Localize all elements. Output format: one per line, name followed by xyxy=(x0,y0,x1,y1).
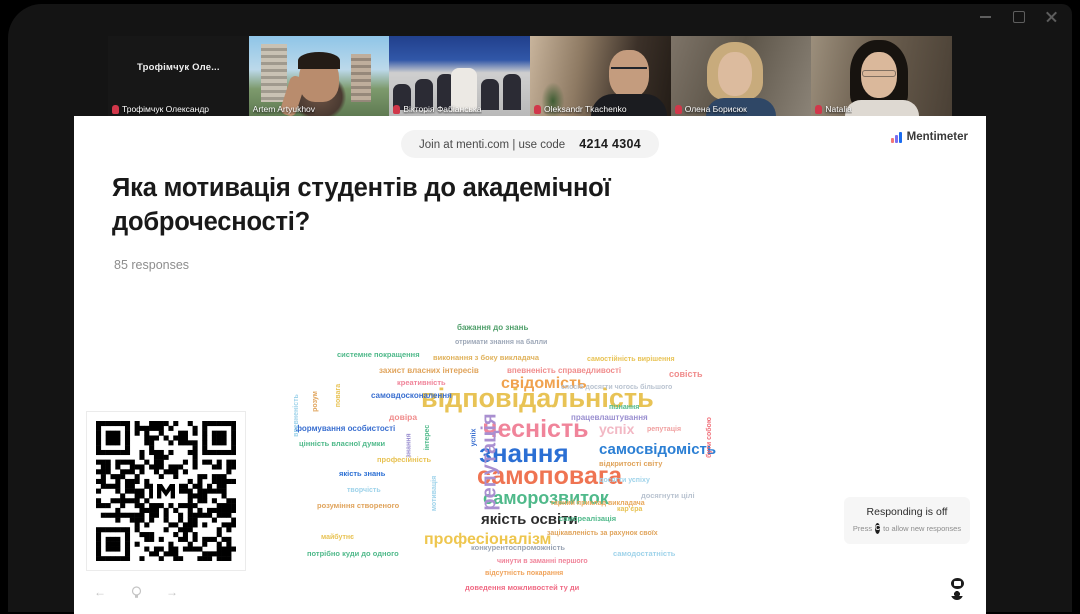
muted-mic-icon xyxy=(393,105,400,114)
brand-name: Mentimeter xyxy=(907,131,968,143)
word-cloud-word: довіра xyxy=(389,413,417,422)
participant-label: Artem Artyukhov xyxy=(253,104,315,114)
responding-status-title: Responding is off xyxy=(854,506,960,518)
word-cloud-word: розуміння створеного xyxy=(317,502,399,510)
slide-navigation[interactable]: ← → xyxy=(92,584,180,600)
word-cloud-word: формування особистості xyxy=(295,425,395,433)
mentimeter-mark-icon xyxy=(153,479,179,503)
word-cloud-word: совість xyxy=(669,370,702,379)
word-cloud-word: гарний приклад викладача xyxy=(551,500,645,507)
word-cloud-word: зацікавленість за рахунок своїх xyxy=(547,530,658,537)
participant-name: Artem Artyukhov xyxy=(253,104,315,114)
responding-status-card: Responding is off Press C to allow new r… xyxy=(844,497,970,544)
word-cloud-word: відкритості світу xyxy=(599,460,662,468)
word-cloud-word: бути собою xyxy=(706,417,713,458)
bar-chart-icon xyxy=(891,132,902,143)
minimize-icon[interactable] xyxy=(979,10,992,23)
join-code: 4214 4304 xyxy=(579,137,641,151)
word-cloud-word: системне покращення xyxy=(337,351,420,359)
hint-prefix: Press xyxy=(853,524,872,533)
word-cloud-word: самодостатність xyxy=(613,550,675,558)
participant-label: Oleksandr Tkachenko xyxy=(534,104,627,114)
qr-code-panel[interactable] xyxy=(86,411,246,571)
word-cloud-word: впевненість справедливості xyxy=(507,367,621,375)
word-cloud-word: репутація xyxy=(480,413,500,510)
word-cloud: відповідальністьчесністьзнаннясамоповага… xyxy=(269,312,789,572)
word-cloud-word: захист власних інтересів xyxy=(379,367,479,375)
next-slide-button[interactable]: → xyxy=(164,584,180,600)
response-count: 85 responses xyxy=(114,258,189,272)
muted-mic-icon xyxy=(815,105,822,114)
participant-name: Олена Борисюк xyxy=(685,104,747,114)
word-cloud-word: впевненість xyxy=(293,394,300,437)
close-icon[interactable] xyxy=(1045,10,1058,23)
word-cloud-word: спосіб досягти чогось більшого xyxy=(561,384,672,391)
word-cloud-word: чинути в заманні першого xyxy=(497,558,588,565)
presenter-view-button[interactable] xyxy=(948,578,966,604)
participant-tile[interactable]: Трофімчук Оле...Трофімчук Олександр xyxy=(108,36,249,116)
participant-label: Трофімчук Олександр xyxy=(112,104,209,114)
participant-label: Вікторія Фабіанська xyxy=(393,104,481,114)
word-cloud-word: самостійність вирішення xyxy=(587,356,675,363)
word-cloud-word: майбутнє xyxy=(321,534,354,541)
muted-mic-icon xyxy=(534,105,541,114)
word-cloud-word: досягнути цілі xyxy=(641,492,695,500)
word-cloud-word: кар'єра xyxy=(617,506,642,513)
word-cloud-word: розум xyxy=(312,391,319,412)
window-controls[interactable] xyxy=(979,10,1058,23)
bulb-icon[interactable] xyxy=(128,584,144,600)
participant-tile[interactable]: Oleksandr Tkachenko xyxy=(530,36,671,116)
participant-tile[interactable]: Олена Борисюк xyxy=(671,36,812,116)
participant-name: Oleksandr Tkachenko xyxy=(544,104,627,114)
participant-label: Natalia xyxy=(815,104,851,114)
maximize-icon[interactable] xyxy=(1012,10,1025,23)
word-cloud-word: успіх xyxy=(599,422,634,436)
word-cloud-word: інтерес xyxy=(424,425,431,450)
word-cloud-word: репутація xyxy=(647,426,681,433)
window-titlebar xyxy=(8,4,1072,36)
muted-mic-icon xyxy=(112,105,119,114)
screen-icon xyxy=(951,578,964,589)
word-cloud-word: пізнання xyxy=(609,404,639,411)
word-cloud-word: творчість xyxy=(347,487,381,494)
presentation-slide: Join at menti.com | use code 4214 4304 M… xyxy=(74,116,986,614)
word-cloud-word: досягти успіху xyxy=(599,477,650,484)
word-cloud-word: цінність власної думки xyxy=(299,440,385,448)
participant-name: Вікторія Фабіанська xyxy=(403,104,481,114)
participant-video-strip: Трофімчук Оле...Трофімчук ОлександрArtem… xyxy=(108,36,952,116)
participant-label: Олена Борисюк xyxy=(675,104,747,114)
join-text: Join at menti.com | use code xyxy=(419,139,565,151)
page-title: Яка мотивація студентів до академічної д… xyxy=(112,172,752,239)
word-cloud-word: самосвідомість xyxy=(599,442,716,457)
word-cloud-word: якість знань xyxy=(339,470,385,478)
shortcut-key-c: C xyxy=(875,523,880,534)
participant-tile[interactable]: Natalia xyxy=(811,36,952,116)
word-cloud-word: бажання до знань xyxy=(457,324,528,332)
participant-tile[interactable]: Artem Artyukhov xyxy=(249,36,390,116)
participant-center-name: Трофімчук Оле... xyxy=(108,62,249,73)
screenshot-root: Трофімчук Оле...Трофімчук ОлександрArtem… xyxy=(0,0,1080,614)
word-cloud-word: працевлаштування xyxy=(571,414,648,422)
qr-code[interactable] xyxy=(96,421,236,561)
word-cloud-word: професійність xyxy=(377,456,431,464)
participant-name: Трофімчук Олександр xyxy=(122,104,209,114)
word-cloud-word: отримати знання на балли xyxy=(455,339,547,346)
word-cloud-word: мотивація xyxy=(431,476,438,511)
word-cloud-word: самовдосконалення xyxy=(371,392,452,400)
word-cloud-word: конкурентоспроможність xyxy=(471,544,565,552)
person-icon xyxy=(951,591,963,600)
muted-mic-icon xyxy=(675,105,682,114)
participant-name: Natalia xyxy=(825,104,851,114)
word-cloud-word: доведення можливостей ту ди xyxy=(465,584,579,592)
word-cloud-word: повага xyxy=(335,384,342,407)
participant-tile[interactable]: Вікторія Фабіанська xyxy=(389,36,530,116)
prev-slide-button[interactable]: ← xyxy=(92,584,108,600)
join-instruction-bar: Join at menti.com | use code 4214 4304 xyxy=(401,130,659,158)
word-cloud-word: успіх xyxy=(470,429,477,447)
word-cloud-word: виконання з боку викладача xyxy=(433,354,539,362)
app-window: Трофімчук Оле...Трофімчук ОлександрArtem… xyxy=(8,4,1072,612)
word-cloud-word: відсутність покарання xyxy=(485,570,563,577)
word-cloud-word: креативність xyxy=(397,379,446,387)
word-cloud-word: знання xyxy=(406,433,413,457)
word-cloud-word: самореалізація xyxy=(559,515,616,523)
hint-suffix: to allow new responses xyxy=(883,524,961,533)
mentimeter-logo: Mentimeter xyxy=(891,131,968,143)
responding-status-hint: Press C to allow new responses xyxy=(854,523,960,534)
word-cloud-word: потрібно куди до одного xyxy=(307,550,399,558)
